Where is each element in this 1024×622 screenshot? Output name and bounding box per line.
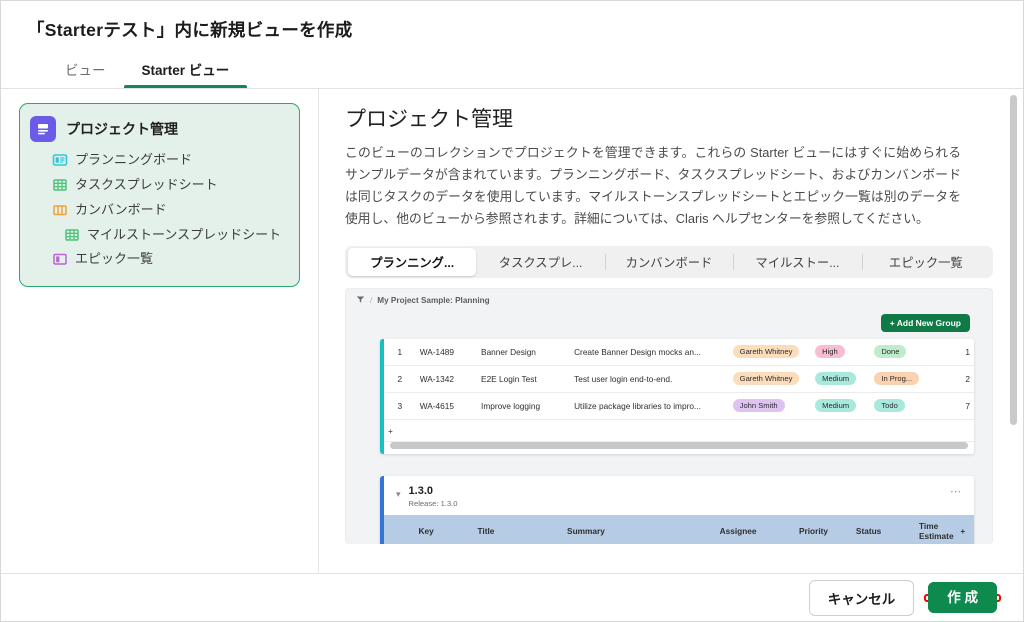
status-chip: In Prog...: [874, 372, 919, 385]
add-group-row: + Add New Group: [346, 312, 992, 335]
add-new-group-button[interactable]: + Add New Group: [881, 314, 970, 332]
assignee-chip: Gareth Whitney: [733, 372, 800, 385]
collection-item-list: プランニングボード タスクスプレッドシート: [30, 148, 285, 272]
sidebar-item-epic-list[interactable]: エピック一覧: [52, 247, 285, 272]
status-chip: Done: [874, 345, 906, 358]
column-header: Summary: [563, 515, 716, 544]
release-name: 1.3.0: [409, 485, 458, 497]
table-row[interactable]: 3 WA-4615 Improve logging Utilize packag…: [384, 393, 974, 420]
column-header: [384, 515, 415, 544]
dialog-footer: キャンセル 作 成: [1, 573, 1023, 621]
column-header: Status: [852, 515, 915, 544]
planning-table: 1 WA-1489 Banner Design Create Banner De…: [384, 339, 974, 442]
release-subtitle: Release: 1.3.0: [409, 499, 458, 508]
row-assignee: Gareth Whitney: [729, 339, 811, 366]
row-number: 1: [384, 339, 416, 366]
release-table: Key Title Summary Assignee Priority Stat…: [384, 515, 974, 544]
row-priority: Medium: [811, 366, 870, 393]
view-preview: / My Project Sample: Planning + Add New …: [345, 288, 993, 544]
breadcrumb-separator: /: [370, 296, 372, 305]
tab-kanban-board[interactable]: カンバンボード: [605, 248, 733, 276]
row-status: Done: [870, 339, 936, 366]
vertical-scrollbar[interactable]: [1010, 95, 1017, 425]
collection-card-project-management[interactable]: プロジェクト管理 プランニングボード: [19, 103, 300, 287]
row-summary: Create Banner Design mocks an...: [570, 339, 729, 366]
cancel-button[interactable]: キャンセル: [809, 580, 915, 616]
priority-chip: Medium: [815, 372, 856, 385]
row-number: 3: [384, 393, 416, 420]
spreadsheet-icon: [64, 227, 80, 243]
row-assignee: Gareth Whitney: [729, 366, 811, 393]
breadcrumb: / My Project Sample: Planning: [346, 289, 992, 312]
row-key: WA-1489: [416, 339, 477, 366]
collection-header: プロジェクト管理: [30, 116, 285, 142]
sidebar-item-label: プランニングボード: [75, 151, 192, 170]
row-priority: Medium: [811, 393, 870, 420]
row-summary: Test user login end-to-end.: [570, 366, 729, 393]
more-horizontal-icon[interactable]: ⋯: [950, 485, 962, 498]
sidebar-item-label: エピック一覧: [75, 250, 153, 269]
row-number: 2: [384, 366, 416, 393]
create-view-dialog: 「Starterテスト」内に新規ビューを作成 ビュー Starter ビュー: [0, 0, 1024, 622]
table-row[interactable]: 1 WA-1489 Banner Design Create Banner De…: [384, 339, 974, 366]
row-estimate: 7: [936, 393, 974, 420]
chevron-down-icon[interactable]: ▾: [396, 489, 401, 500]
dialog-tabbar: ビュー Starter ビュー: [27, 56, 1023, 88]
row-title: E2E Login Test: [477, 366, 570, 393]
page-title: 「Starterテスト」内に新規ビューを作成: [27, 17, 1023, 42]
tab-views[interactable]: ビュー: [47, 59, 124, 88]
row-status: In Prog...: [870, 366, 936, 393]
assignee-chip: Gareth Whitney: [733, 345, 800, 358]
row-title: Improve logging: [477, 393, 570, 420]
column-header: Title: [474, 515, 564, 544]
planning-card-inner: 1 WA-1489 Banner Design Create Banner De…: [384, 339, 974, 454]
preview-tabbar: プランニング... タスクスプレ... カンバンボード マイルストー... エピ…: [345, 246, 993, 278]
sidebar-item-task-spreadsheet[interactable]: タスクスプレッドシート: [52, 173, 285, 198]
horizontal-scrollbar[interactable]: [390, 442, 968, 449]
row-key: WA-1342: [416, 366, 477, 393]
tab-epic-list[interactable]: エピック一覧: [862, 248, 990, 276]
app-collection-icon: [30, 116, 56, 142]
epic-list-icon: [52, 251, 68, 267]
row-estimate: 1: [936, 339, 974, 366]
column-header: Key: [415, 515, 474, 544]
filter-icon: [356, 295, 365, 306]
sidebar-item-milestone-spreadsheet[interactable]: マイルストーンスプレッドシート: [52, 223, 285, 248]
tab-starter-views[interactable]: Starter ビュー: [124, 59, 248, 88]
release-header: ▾ 1.3.0 Release: 1.3.0 ⋯: [384, 476, 974, 515]
row-estimate: 2: [936, 366, 974, 393]
main-title: プロジェクト管理: [345, 103, 993, 133]
sidebar-item-label: カンバンボード: [75, 201, 167, 220]
create-button-highlight: 作 成: [924, 594, 1001, 602]
column-header: Time Estimate: [915, 515, 952, 544]
tab-task-spreadsheet[interactable]: タスクスプレ...: [476, 248, 604, 276]
planning-card: 1 WA-1489 Banner Design Create Banner De…: [380, 339, 974, 454]
dialog-header: 「Starterテスト」内に新規ビューを作成 ビュー Starter ビュー: [1, 1, 1023, 88]
priority-chip: High: [815, 345, 845, 358]
tab-milestone-spreadsheet[interactable]: マイルストー...: [733, 248, 861, 276]
sidebar-item-planning-board[interactable]: プランニングボード: [52, 148, 285, 173]
sidebar-item-label: マイルストーンスプレッドシート: [87, 226, 281, 245]
assignee-chip: John Smith: [733, 399, 785, 412]
create-button[interactable]: 作 成: [928, 582, 997, 613]
row-priority: High: [811, 339, 870, 366]
release-card-inner: ▾ 1.3.0 Release: 1.3.0 ⋯ Key: [384, 476, 974, 544]
table-row[interactable]: 2 WA-1342 E2E Login Test Test user login…: [384, 366, 974, 393]
add-column-button[interactable]: +: [952, 515, 974, 544]
add-row-label: +: [384, 420, 974, 442]
spreadsheet-icon: [52, 177, 68, 193]
dialog-body: プロジェクト管理 プランニングボード: [1, 89, 1023, 573]
row-key: WA-4615: [416, 393, 477, 420]
row-status: Todo: [870, 393, 936, 420]
sidebar: プロジェクト管理 プランニングボード: [1, 89, 319, 573]
sidebar-item-label: タスクスプレッドシート: [75, 176, 218, 195]
tab-planning-board[interactable]: プランニング...: [348, 248, 476, 276]
add-row[interactable]: +: [384, 420, 974, 442]
main-panel: プロジェクト管理 このビューのコレクションでプロジェクトを管理できます。これらの…: [319, 89, 1023, 573]
kanban-board-icon: [52, 202, 68, 218]
column-header: Priority: [795, 515, 852, 544]
release-table-header: Key Title Summary Assignee Priority Stat…: [384, 515, 974, 544]
main-description: このビューのコレクションでプロジェクトを管理できます。これらの Starter …: [345, 142, 961, 230]
release-meta: 1.3.0 Release: 1.3.0: [409, 485, 458, 508]
row-summary: Utilize package libraries to impro...: [570, 393, 729, 420]
planning-board-icon: [52, 152, 68, 168]
status-chip: Todo: [874, 399, 904, 412]
row-title: Banner Design: [477, 339, 570, 366]
column-header: Assignee: [716, 515, 795, 544]
release-card: ▾ 1.3.0 Release: 1.3.0 ⋯ Key: [380, 476, 974, 544]
sidebar-item-kanban-board[interactable]: カンバンボード: [52, 198, 285, 223]
breadcrumb-label: My Project Sample: Planning: [377, 296, 489, 305]
priority-chip: Medium: [815, 399, 856, 412]
row-assignee: John Smith: [729, 393, 811, 420]
collection-title: プロジェクト管理: [66, 119, 178, 139]
